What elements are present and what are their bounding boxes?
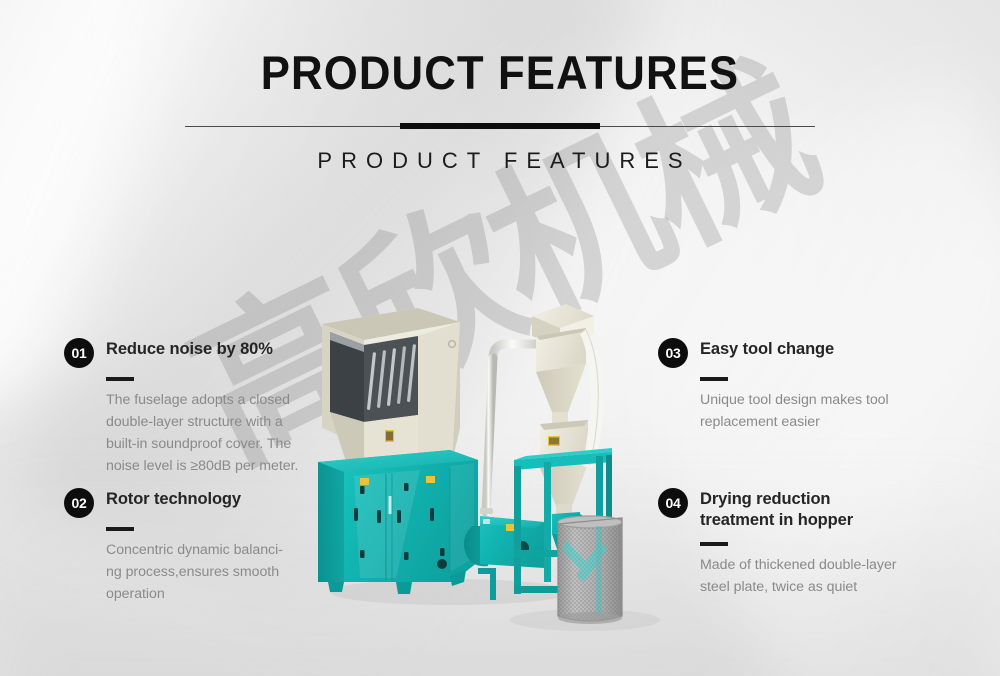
feature-03-badge: 03: [658, 338, 688, 368]
feature-card-04: 04 Drying reduction treatment in hopper …: [658, 488, 938, 598]
product-image: [300, 300, 670, 640]
feature-01-title: Reduce noise by 80%: [106, 339, 273, 360]
title-divider: [185, 119, 815, 135]
feature-01-underline: [106, 377, 134, 381]
page-subtitle: PRODUCT FEATURES: [0, 148, 1000, 174]
feature-04-underline: [700, 542, 728, 546]
feature-02-underline: [106, 527, 134, 531]
feature-03-body: Unique tool design makes tool replacemen…: [700, 389, 928, 433]
feature-01-header: 01 Reduce noise by 80%: [64, 338, 314, 368]
feature-card-03: 03 Easy tool change Unique tool design m…: [658, 338, 928, 433]
feature-01-body: The fuselage adopts a closed double-laye…: [106, 389, 314, 477]
feature-03-header: 03 Easy tool change: [658, 338, 928, 368]
feature-02-body: Concentric dynamic balanci- ng process,e…: [106, 539, 314, 605]
feature-02-header: 02 Rotor technology: [64, 488, 314, 518]
crusher-machine-illustration: [300, 300, 670, 640]
feature-03-underline: [700, 377, 728, 381]
feature-04-body: Made of thickened double-layer steel pla…: [700, 554, 938, 598]
page-title: PRODUCT FEATURES: [35, 48, 965, 97]
feature-02-title: Rotor technology: [106, 489, 241, 510]
page-header: PRODUCT FEATURES PRODUCT FEATURES: [0, 48, 1000, 174]
feature-03-title: Easy tool change: [700, 339, 834, 360]
poster-canvas: 高欣机械 PRODUCT FEATURES PRODUCT FEATURES: [0, 0, 1000, 676]
feature-01-badge: 01: [64, 338, 94, 368]
feature-04-badge: 04: [658, 488, 688, 518]
feature-02-badge: 02: [64, 488, 94, 518]
feature-card-01: 01 Reduce noise by 80% The fuselage adop…: [64, 338, 314, 477]
feature-04-header: 04 Drying reduction treatment in hopper: [658, 488, 938, 531]
feature-card-02: 02 Rotor technology Concentric dynamic b…: [64, 488, 314, 605]
feature-04-title: Drying reduction treatment in hopper: [700, 489, 853, 531]
divider-accent-bar: [400, 123, 600, 129]
